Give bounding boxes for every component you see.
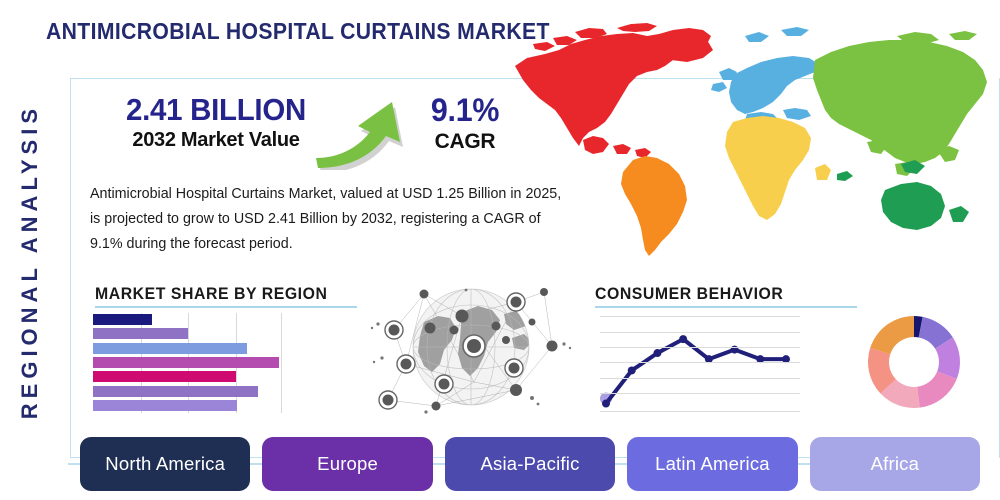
map-region-asia	[813, 31, 987, 176]
region-button-europe[interactable]: Europe	[262, 437, 432, 491]
region-button-north-america[interactable]: North America	[80, 437, 250, 491]
bar-row	[93, 400, 237, 411]
bar	[93, 314, 152, 325]
region-button-africa[interactable]: Africa	[810, 437, 980, 491]
bar-row	[93, 357, 279, 368]
bar-row	[93, 386, 258, 397]
market-value: 2.41 BILLION	[121, 92, 311, 128]
kpi-row: 2.41 BILLION 2032 Market Value 9.1% CAGR	[90, 92, 510, 170]
map-region-south-america	[621, 156, 687, 256]
cagr-caption: CAGR	[410, 130, 520, 154]
bar	[93, 400, 237, 411]
button-connector	[798, 463, 810, 465]
market-value-block: 2.41 BILLION 2032 Market Value	[116, 92, 316, 152]
consumer-behavior-line-chart	[600, 312, 800, 415]
region-button-row[interactable]: North AmericaEuropeAsia-PacificLatin Ame…	[80, 437, 980, 491]
cagr-block: 9.1% CAGR	[410, 92, 520, 154]
map-region-europe	[711, 27, 819, 124]
side-label: REGIONAL ANALYSIS	[2, 72, 58, 452]
bar	[93, 386, 258, 397]
regional-distribution-donut-chart	[862, 310, 966, 414]
page-title: ANTIMICROBIAL HOSPITAL CURTAINS MARKET	[46, 18, 550, 45]
bar-row	[93, 343, 247, 354]
donut-segment	[870, 316, 914, 354]
region-button-asia-pacific[interactable]: Asia-Pacific	[445, 437, 615, 491]
button-connector	[250, 463, 262, 465]
donut-segment	[917, 371, 957, 407]
bar-row	[93, 314, 152, 325]
bar	[93, 343, 247, 354]
growth-arrow-up-icon	[308, 82, 414, 170]
cagr-value: 9.1%	[413, 92, 518, 129]
bar-row	[93, 328, 188, 339]
market-share-heading-rule	[95, 306, 357, 308]
consumer-behavior-heading-rule	[595, 306, 857, 308]
map-region-africa	[725, 116, 831, 220]
market-share-bar-chart	[93, 313, 283, 413]
side-label-text: REGIONAL ANALYSIS	[17, 104, 43, 419]
button-connector	[615, 463, 627, 465]
world-map	[497, 14, 997, 264]
map-region-north-america	[515, 23, 713, 158]
line-chart-gridlines	[600, 312, 800, 415]
button-connector	[433, 463, 445, 465]
region-button-latin-america[interactable]: Latin America	[627, 437, 797, 491]
market-value-caption: 2032 Market Value	[116, 129, 316, 152]
market-share-heading: MARKET SHARE BY REGION	[95, 284, 327, 304]
bar	[93, 328, 188, 339]
consumer-behavior-heading: CONSUMER BEHAVIOR	[595, 284, 783, 304]
bar-row	[93, 371, 236, 382]
global-network-globe-icon	[366, 272, 576, 422]
bar	[93, 357, 279, 368]
bar	[93, 371, 236, 382]
description-text: Antimicrobial Hospital Curtains Market, …	[90, 182, 570, 257]
